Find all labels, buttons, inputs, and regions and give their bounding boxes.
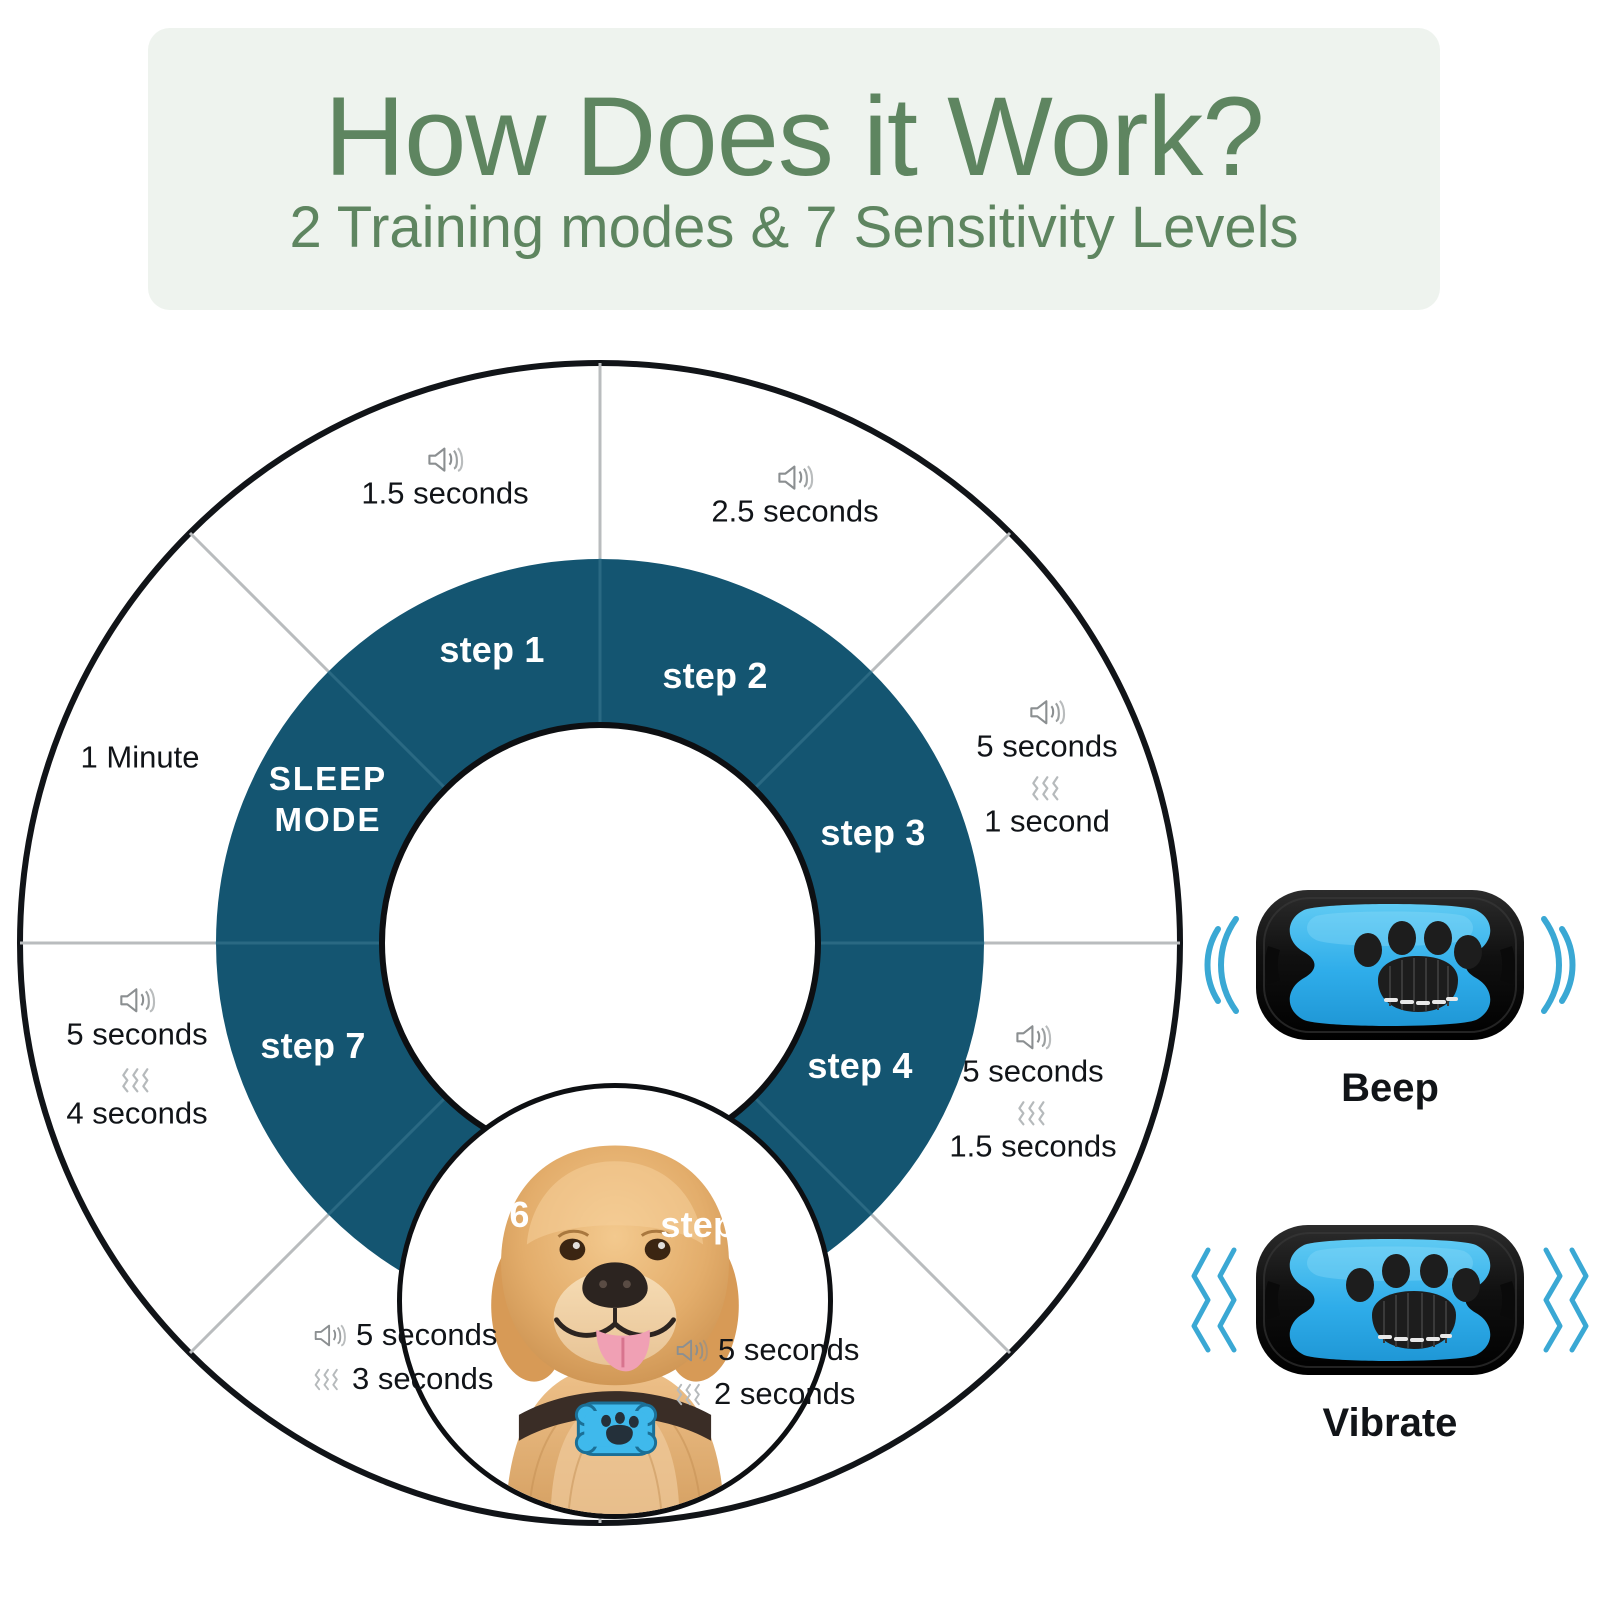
step3-timing: 5 seconds 1 second (976, 697, 1117, 838)
speaker-icon (675, 1337, 709, 1364)
step6-beep-duration: 5 seconds (356, 1318, 497, 1353)
step7-vibrate-duration: 4 seconds (66, 1096, 207, 1131)
step1-timing: 1.5 seconds (361, 445, 528, 512)
sleep-mode-duration: 1 Minute (81, 740, 200, 775)
step7-beep-duration: 5 seconds (66, 1017, 207, 1052)
sleep-mode-line2: MODE (269, 799, 387, 840)
speaker-icon (776, 463, 814, 493)
vibration-icon (1016, 1099, 1050, 1127)
vibration-icon (675, 1382, 705, 1407)
step-label-7: step 7 (260, 1025, 365, 1067)
speaker-icon (426, 445, 464, 475)
step3-beep-duration: 5 seconds (976, 729, 1117, 764)
speaker-icon (313, 1322, 347, 1349)
vibrate-caption: Vibrate (1323, 1401, 1458, 1446)
bark-collar-device-vibrate (1250, 1215, 1530, 1385)
step6-vibrate-duration: 3 seconds (352, 1362, 493, 1397)
step-label-2: step 2 (662, 655, 767, 697)
sound-wave-icon-right (1534, 895, 1586, 1035)
vibration-icon (1030, 774, 1064, 802)
step6-timing: 5 seconds 3 seconds (313, 1318, 497, 1396)
step1-beep-duration: 1.5 seconds (361, 477, 528, 512)
vibrate-mode-block: Vibrate (1190, 1215, 1590, 1446)
sleep-mode-duration-label: 1 Minute (81, 741, 200, 776)
step2-timing: 2.5 seconds (711, 463, 878, 530)
speaker-icon (1014, 1022, 1052, 1052)
step5-vibrate-duration: 2 seconds (714, 1377, 855, 1412)
step-label-1: step 1 (439, 629, 544, 671)
beep-mode-block: Beep (1190, 880, 1590, 1111)
step-label-4: step 4 (807, 1045, 912, 1087)
speaker-icon (1028, 697, 1066, 727)
sound-wave-icon-left (1194, 895, 1246, 1035)
training-mode-wheel: step 1 step 2 step 3 step 4 step 5 step … (15, 358, 1185, 1528)
page-title: How Does it Work? (324, 81, 1263, 193)
step-label-5: step 5 (660, 1204, 765, 1246)
step7-timing: 5 seconds 4 seconds (66, 985, 207, 1130)
zigzag-wave-icon-right (1534, 1230, 1590, 1370)
bark-collar-device (576, 1403, 655, 1455)
step3-vibrate-duration: 1 second (984, 804, 1110, 839)
step-label-6: step 6 (424, 1194, 529, 1236)
sleep-mode-line1: SLEEP (269, 758, 387, 799)
page-subtitle: 2 Training modes & 7 Sensitivity Levels (289, 199, 1298, 257)
vibration-icon (313, 1367, 343, 1392)
bark-collar-device-beep (1250, 880, 1530, 1050)
beep-device-row (1190, 880, 1590, 1050)
step2-beep-duration: 2.5 seconds (711, 495, 878, 530)
step-label-3: step 3 (820, 812, 925, 854)
vibration-icon (120, 1066, 154, 1094)
step4-beep-duration: 5 seconds (962, 1054, 1103, 1089)
step4-vibrate-duration: 1.5 seconds (949, 1129, 1116, 1164)
step5-timing: 5 seconds 2 seconds (675, 1333, 859, 1411)
zigzag-wave-icon-left (1190, 1230, 1246, 1370)
speaker-icon (118, 985, 156, 1015)
step4-timing: 5 seconds 1.5 seconds (949, 1022, 1116, 1163)
beep-caption: Beep (1341, 1066, 1439, 1111)
step5-beep-duration: 5 seconds (718, 1333, 859, 1368)
vibrate-device-row (1190, 1215, 1590, 1385)
header-banner: How Does it Work? 2 Training modes & 7 S… (148, 28, 1440, 310)
sleep-mode-label: SLEEP MODE (269, 758, 387, 841)
golden-retriever-photo (397, 1083, 833, 1519)
